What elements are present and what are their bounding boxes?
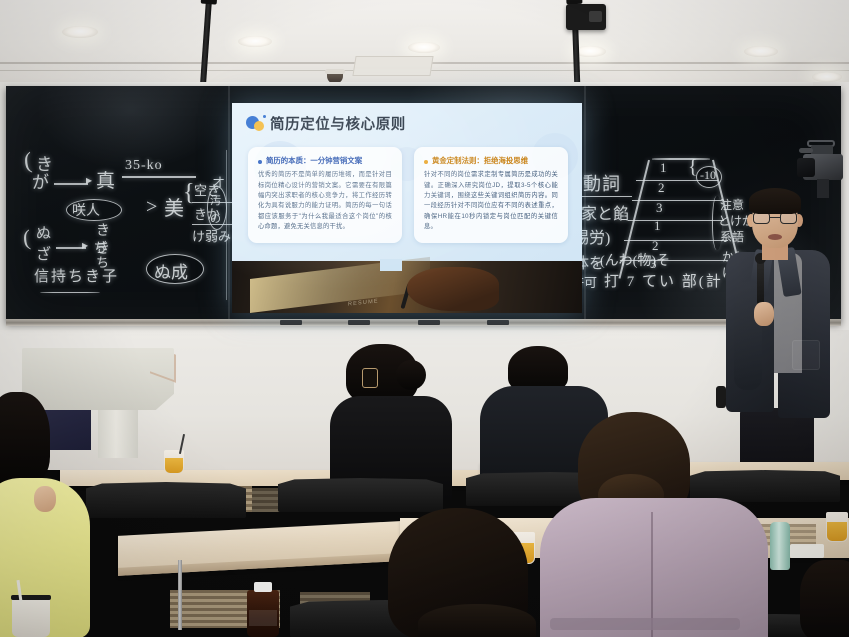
ceiling-light: [238, 36, 272, 47]
plastic-bottle-tea: [247, 590, 279, 637]
slide-card: 黄金定制法则：拒绝海投思维 针对不同的岗位需求定制专属简历是成功的关键。正确深入…: [414, 147, 568, 243]
classroom-photo: ( き が ▸ 真 咲人 き ぢ ( ぬ ざ ▸ き ち 信持ちき子 35-ko…: [0, 0, 849, 637]
attendee-purple-coat: [540, 412, 790, 637]
chalk-note-right: 動詞: [583, 170, 621, 196]
chalk-tray-clip: [418, 320, 440, 325]
chalk-note-left: 咲人: [72, 200, 100, 220]
bottle-cap: [254, 582, 272, 592]
presenter-remote: [716, 386, 726, 408]
attendee-hair-bun: [396, 360, 426, 390]
slide-title: 简历定位与核心原则: [270, 113, 406, 134]
slide-card: 简历的本质：一分钟营销文案 优秀的简历不是简单的履历堆砌，而是针对目标岗位精心设…: [248, 147, 402, 243]
chalk-note-left: ぬ: [36, 222, 51, 243]
attendee-coat-belt: [550, 618, 740, 630]
chalk-note-center: の: [210, 210, 221, 226]
attendee-front-row-center: [418, 604, 536, 637]
coffee-cup-lidded: [12, 598, 50, 637]
tripod-video-camera: [797, 136, 845, 198]
chalk-level-number: 2: [652, 238, 659, 254]
ceiling-light: [812, 72, 842, 82]
drink-cup-orange: [164, 450, 184, 474]
brand-logo-icon: [246, 116, 265, 132]
chalk-tray-clip: [280, 320, 302, 325]
chalk-note-right: -10: [700, 168, 716, 183]
chalk-level-number: 1: [660, 160, 667, 176]
ceiling-light: [408, 42, 440, 53]
chalk-note-left: ▸: [86, 173, 92, 188]
desk-leg: [178, 560, 182, 630]
desk-modesty-panel: [252, 488, 282, 512]
chalk-arrow-stem: [54, 183, 88, 185]
presenter-hair: [749, 188, 801, 214]
camera-mic-icon: [799, 148, 813, 153]
bottle-label: [249, 610, 277, 626]
chalk-underline: [122, 176, 196, 178]
attendee-far-right: [800, 560, 849, 637]
ceiling-projector: [566, 4, 606, 30]
logo-gold-circle: [254, 121, 264, 131]
presenter-hand: [754, 302, 774, 326]
logo-dot: [263, 115, 266, 118]
chalk-note-right: {: [688, 156, 698, 179]
napkin: [790, 544, 824, 558]
chalk-note-left: が: [32, 168, 49, 193]
chalk-tray-clip: [348, 320, 370, 325]
chalk-level-number: 3: [656, 200, 663, 216]
attendee-black-top: [330, 344, 450, 494]
chalk-level-rule: [628, 220, 724, 221]
chalk-note-center: >: [146, 196, 157, 219]
slide-card-list: 简历的本质：一分钟营销文案 优秀的简历不是简单的履历堆砌，而是针对目标岗位精心设…: [248, 147, 568, 243]
slide-card-body: 针对不同的岗位需求定制专属简历是成功的关键。正确深入研究岗位JD，提取3-5个核…: [424, 170, 558, 232]
chalk-level-number: 2: [658, 180, 665, 196]
attendee-hand: [34, 486, 56, 512]
lectern-column: [98, 406, 138, 458]
attendee-hair: [800, 560, 849, 637]
cup-liquid: [165, 458, 183, 473]
projected-slide: 简历定位与核心原则 简历的本质：一分钟营销文案 优秀的简历不是简单的履历堆砌，而…: [232, 103, 582, 313]
chalk-level-number: 3: [650, 256, 657, 272]
ceiling-light: [744, 46, 778, 57]
hair-clip-icon: [362, 368, 378, 388]
chalk-level-number: 1: [654, 218, 661, 234]
chalk-level-rule: [632, 200, 722, 201]
chalk-vertical-divider: [226, 150, 227, 300]
cup-liquid: [827, 522, 847, 541]
chalk-note-center: 美: [164, 192, 184, 221]
cup-lid: [11, 595, 51, 600]
attendee-coat: [540, 498, 768, 637]
attendee-hair: [418, 604, 536, 637]
chalk-note-left: ざ: [36, 243, 51, 264]
camera-lens-icon: [797, 158, 815, 177]
slide-card-title: 简历的本质：一分钟营销文案: [266, 156, 362, 165]
photo-hand: [407, 267, 499, 311]
drink-cup-right: [826, 512, 848, 542]
presenter-jacket-pocket: [792, 340, 820, 370]
slide-photo: RESUME: [232, 261, 582, 313]
chalk-tray-clip: [487, 320, 509, 325]
board-panel-seam: [228, 86, 230, 322]
slide-card-title: 黄金定制法则：拒绝海投思维: [432, 156, 528, 165]
slide-notch: [380, 259, 402, 271]
bullet-icon: [424, 160, 428, 164]
chalk-note-center: 汚: [210, 192, 221, 208]
chalk-note-left: 信持ちき子: [34, 265, 119, 286]
chalk-note-center: 35-ko: [125, 158, 163, 174]
slide-header: 简历定位与核心原则: [246, 113, 406, 134]
slide-card-header: 简历的本质：一分钟营销文案: [258, 156, 392, 165]
slide-card-body: 优秀的简历不是简单的履历堆砌，而是针对目标岗位精心设计的营销文案。它需要在有限篇…: [258, 170, 392, 232]
ceiling-light: [62, 26, 98, 38]
chalk-note-center: ぬ成: [154, 258, 188, 283]
chalk-note-left: 真: [96, 166, 115, 193]
cup-body: [12, 598, 50, 637]
slide-card-header: 黄金定制法则：拒绝海投思维: [424, 156, 558, 165]
chalk-note-left: ▸: [82, 238, 88, 253]
bullet-icon: [258, 160, 262, 164]
chair: [278, 478, 443, 512]
presenter-mouth: [768, 234, 782, 240]
chair: [86, 482, 246, 518]
ceiling-vent: [352, 56, 433, 76]
attendee-hair: [0, 392, 50, 484]
